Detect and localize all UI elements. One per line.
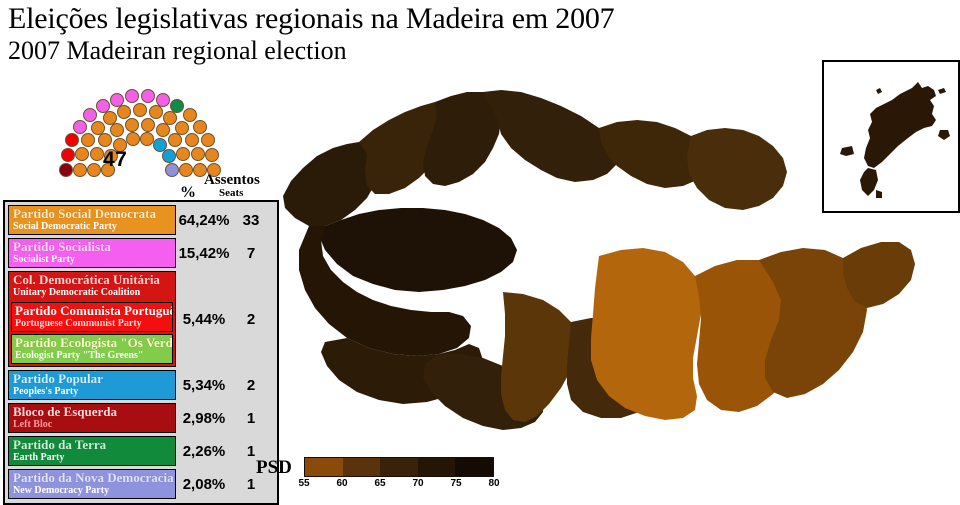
party-name-english: Ecologist Party "The Greens" [15, 350, 169, 361]
legend-swatch [418, 458, 456, 476]
total-seats-label: 47 [103, 148, 127, 172]
region-ponta-sao-lourenco [843, 242, 915, 308]
seat-dot [125, 89, 139, 103]
seat-dot [141, 118, 155, 132]
vote-percentage: 64,24% [176, 205, 232, 235]
seat-dot [191, 147, 205, 161]
party-name-portuguese: Bloco de Esquerda [13, 405, 172, 419]
party-cell: Partido SocialistaSocialist Party [8, 238, 176, 268]
seat-dot [141, 89, 155, 103]
coalition-member: Partido Comunista PortuguêsPortuguese Co… [11, 302, 173, 332]
vote-percentage: 2,98% [176, 403, 232, 433]
party-name-english: Socialist Party [13, 254, 172, 265]
legend-tick: 75 [450, 478, 461, 489]
legend-tick: 60 [336, 478, 347, 489]
region-north-coast [483, 90, 619, 182]
islet-northwest [876, 88, 882, 94]
table-row: Col. Democrática UnitáriaUnitary Democra… [8, 271, 274, 367]
seat-dot [110, 123, 124, 137]
table-row: Partido SocialistaSocialist Party15,42%7 [8, 238, 274, 268]
party-name-english: Earth Party [13, 452, 172, 463]
seat-dot [117, 105, 131, 119]
seat-dot [83, 108, 97, 122]
islet-west [840, 146, 854, 156]
party-cell: Partido PopularPeoples's Party [8, 370, 176, 400]
legend-swatch [343, 458, 381, 476]
seat-dot [90, 147, 104, 161]
party-name-portuguese: Col. Democrática Unitária [13, 273, 171, 287]
party-name-english: New Democracy Party [13, 485, 172, 496]
party-coalition-cell: Col. Democrática UnitáriaUnitary Democra… [8, 271, 176, 367]
party-cell: Partido da TerraEarth Party [8, 436, 176, 466]
seat-dot [149, 105, 163, 119]
party-name-portuguese: Partido Social Democrata [13, 207, 172, 221]
party-name-portuguese: Partido da Terra [13, 438, 172, 452]
table-row: Bloco de EsquerdaLeft Bloc2,98%1 [8, 403, 274, 433]
seat-dot [65, 133, 79, 147]
legend-tick: 65 [374, 478, 385, 489]
legend-swatch [305, 458, 343, 476]
vote-percentage: 15,42% [176, 238, 232, 268]
legend-swatch [455, 458, 493, 476]
party-cell: Bloco de EsquerdaLeft Bloc [8, 403, 176, 433]
islet-south-small [876, 190, 882, 198]
legend-swatch [380, 458, 418, 476]
header-seats-english: Seats [219, 187, 243, 199]
islet-east [938, 130, 950, 140]
inset-svg [824, 62, 958, 211]
party-name-english: Peoples's Party [13, 386, 172, 397]
region-ribeira-brava [501, 292, 577, 422]
legend-tick: 80 [488, 478, 499, 489]
region-santa-cruz-east [687, 128, 787, 210]
seat-dot [73, 163, 87, 177]
seat-dot [162, 149, 176, 163]
porto-santo-shapes [840, 82, 950, 198]
page-title-portuguese: Eleições legislativas regionais na Madei… [8, 2, 808, 36]
islet-south [860, 168, 878, 196]
seat-dot [87, 163, 101, 177]
party-name-english: Portuguese Communist Party [15, 318, 169, 329]
party-name-portuguese: Partido Socialista [13, 240, 172, 254]
seat-dot [75, 147, 89, 161]
seat-dot [98, 133, 112, 147]
seat-dot [59, 163, 73, 177]
seat-dot [176, 147, 190, 161]
seat-dot [126, 132, 140, 146]
legend-tick-labels: 556065707580 [304, 478, 494, 492]
seat-dot [168, 133, 182, 147]
seat-dot [205, 148, 219, 162]
party-name-portuguese: Partido Ecologista "Os Verdes" [15, 336, 169, 350]
legend-tick: 55 [298, 478, 309, 489]
vote-percentage: 5,34% [176, 370, 232, 400]
seat-dot [156, 123, 170, 137]
seat-dot [125, 118, 139, 132]
seat-dot [183, 108, 197, 122]
party-name-portuguese: Partido da Nova Democracia [13, 471, 172, 485]
party-cell: Partido Social DemocrataSocial Democrati… [8, 205, 176, 235]
legend-gradient-bar [304, 457, 494, 477]
seat-dot [175, 121, 189, 135]
vote-percentage: 2,26% [176, 436, 232, 466]
seat-dot [193, 120, 207, 134]
legend-party-label: PSD [256, 457, 292, 479]
party-cell: Partido da Nova DemocraciaNew Democracy … [8, 469, 176, 499]
seat-dot [140, 132, 154, 146]
porto-santo-inset-box [822, 60, 960, 213]
party-name-english: Social Democratic Party [13, 221, 172, 232]
coalition-member: Partido Ecologista "Os Verdes"Ecologist … [11, 334, 173, 364]
seat-dot [201, 133, 215, 147]
parliament-seat-diagram [0, 80, 280, 175]
vote-percentage: 2,08% [176, 469, 232, 499]
table-row: Partido da TerraEarth Party2,26%1 [8, 436, 274, 466]
seat-dot [81, 133, 95, 147]
vote-percentage: 5,44% [176, 271, 232, 367]
table-row: Partido Social DemocrataSocial Democrati… [8, 205, 274, 235]
legend-tick: 70 [412, 478, 423, 489]
seat-dot [61, 148, 75, 162]
party-name-portuguese: Partido Comunista Português [15, 304, 169, 318]
party-name-english: Left Bloc [13, 419, 172, 430]
region-porto-santo [864, 82, 936, 168]
islet-northeast [938, 88, 946, 94]
table-row: Partido da Nova DemocraciaNew Democracy … [8, 469, 274, 499]
table-row: Partido PopularPeoples's Party5,34%2 [8, 370, 274, 400]
party-name-portuguese: Partido Popular [13, 372, 172, 386]
election-results-table: Partido Social DemocrataSocial Democrati… [3, 200, 279, 505]
seat-dot [185, 133, 199, 147]
coalition-header: Col. Democrática UnitáriaUnitary Democra… [11, 273, 173, 300]
map-municipalities [283, 90, 915, 430]
seat-dot [133, 103, 147, 117]
map-legend: PSD 556065707580 [256, 455, 506, 499]
party-name-english: Unitary Democratic Coalition [13, 287, 171, 298]
seat-dot [73, 120, 87, 134]
region-central-highland [319, 208, 517, 292]
